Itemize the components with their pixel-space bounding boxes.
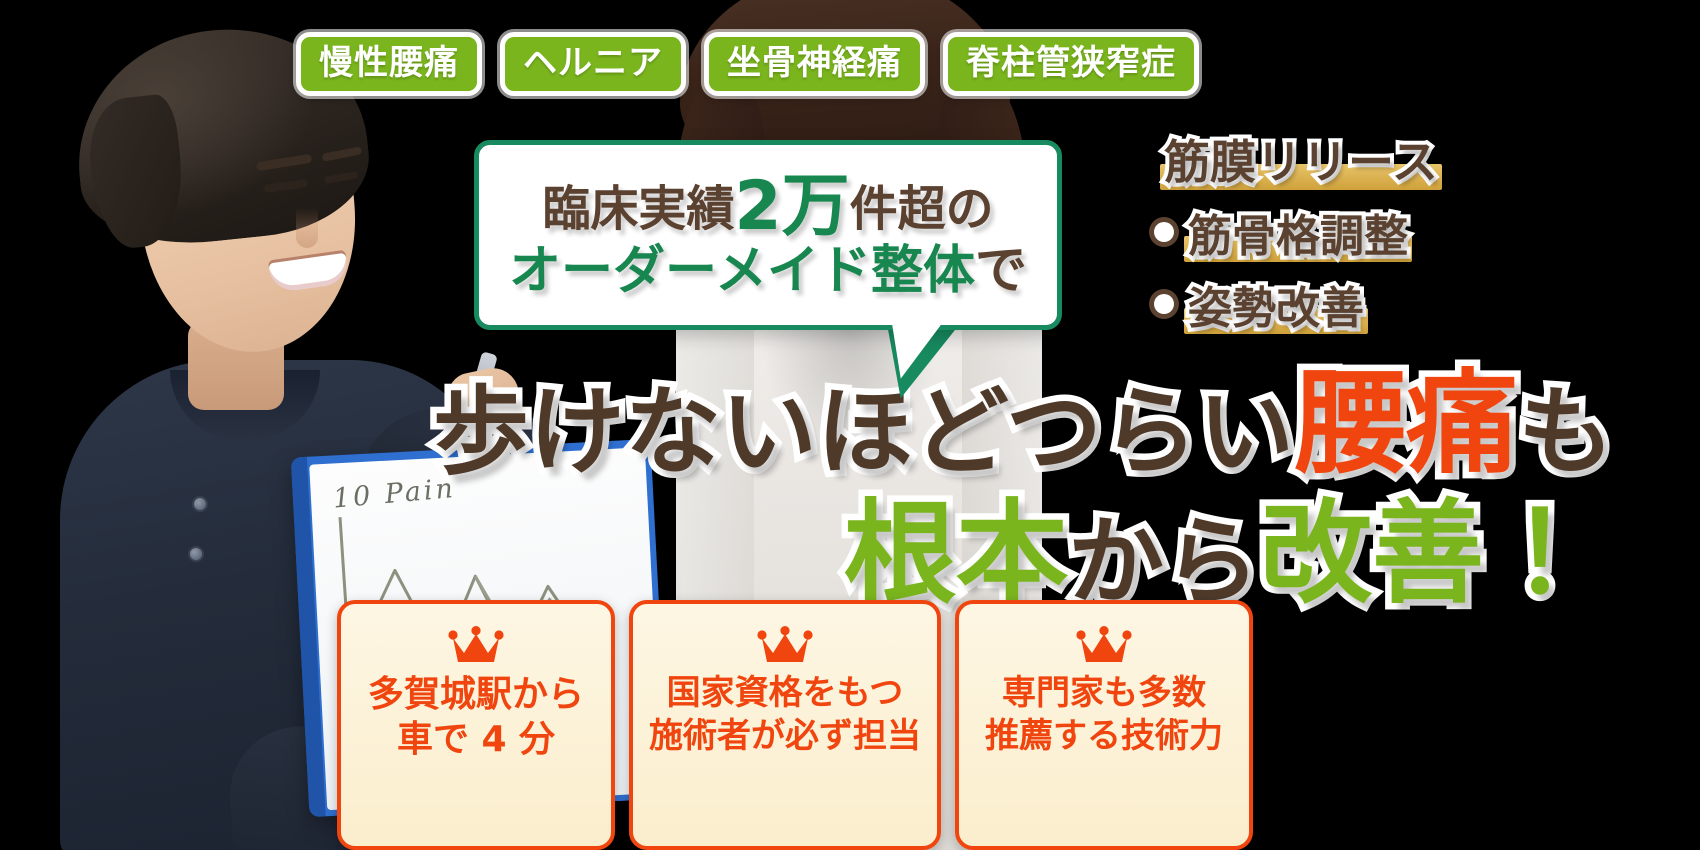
bubble-line2-suffix: で: [975, 241, 1027, 301]
badge-1-line-2: 車で 4 分: [397, 717, 555, 762]
bubble-line1-prefix: 臨床実績: [542, 181, 734, 237]
treatment-heading-label: 筋膜リリース: [1164, 126, 1438, 192]
scrub-snap-top: [192, 496, 208, 512]
bubble-case-count: 2万: [734, 167, 849, 246]
badge-2-line-1: 国家資格をもつ: [667, 672, 904, 715]
bullet-dot-icon: [1154, 222, 1174, 242]
bubble-line-1: 臨床実績2万件超の: [542, 171, 993, 242]
therapist-nose: [296, 208, 318, 248]
symptom-tag-list: 慢性腰痛 ヘルニア 坐骨神経痛 脊柱管狭窄症: [296, 32, 1199, 96]
symptom-tag-3[interactable]: 坐骨神経痛: [704, 32, 925, 96]
feature-badge-list: 多賀城駅から 車で 4 分 国家資格をもつ 施術者が必ず担当 専門家も多数 推薦…: [337, 600, 1253, 850]
feature-badge-1[interactable]: 多賀城駅から 車で 4 分: [337, 600, 615, 850]
treatment-list-heading: 筋膜リリース: [1140, 126, 1438, 192]
treatment-list-item: 姿勢改善: [1140, 272, 1438, 336]
crown-icon: [1076, 626, 1132, 664]
treatment-item-label-2: 姿勢改善: [1188, 272, 1364, 336]
badge-3-line-1: 専門家も多数: [1002, 672, 1206, 715]
bullet-dot-icon: [1154, 294, 1174, 314]
feature-badge-3[interactable]: 専門家も多数 推薦する技術力: [955, 600, 1253, 850]
feature-badge-2[interactable]: 国家資格をもつ 施術者が必ず担当: [629, 600, 941, 850]
speech-bubble: 臨床実績2万件超の オーダーメイド整体で: [474, 140, 1062, 330]
treatment-item-label-1: 筋骨格調整: [1188, 200, 1408, 264]
symptom-tag-1[interactable]: 慢性腰痛: [296, 32, 482, 96]
crown-icon: [448, 626, 504, 664]
treatment-list-item: 筋骨格調整: [1140, 200, 1438, 264]
bubble-service-name: オーダーメイド整体: [509, 241, 975, 301]
hero-banner: 10 Pain 慢性腰痛 ヘルニア 坐骨神経痛 脊柱管狭窄症 臨床実績2万件超の…: [0, 0, 1700, 850]
treatment-list: 筋膜リリース 筋骨格調整 姿勢改善: [1140, 126, 1438, 336]
badge-2-line-2: 施術者が必ず担当: [649, 715, 921, 758]
bubble-line1-suffix: 件超の: [850, 181, 994, 237]
badge-3-line-2: 推薦する技術力: [985, 715, 1223, 758]
speech-bubble-tail-inner: [882, 315, 943, 384]
badge-1-line-1: 多賀城駅から: [368, 672, 584, 717]
symptom-tag-2[interactable]: ヘルニア: [500, 32, 686, 96]
scrub-snap-bottom: [188, 546, 204, 562]
bubble-line-2: オーダーメイド整体で: [509, 244, 1027, 299]
crown-icon: [757, 626, 813, 664]
symptom-tag-4[interactable]: 脊柱管狭窄症: [943, 32, 1199, 96]
